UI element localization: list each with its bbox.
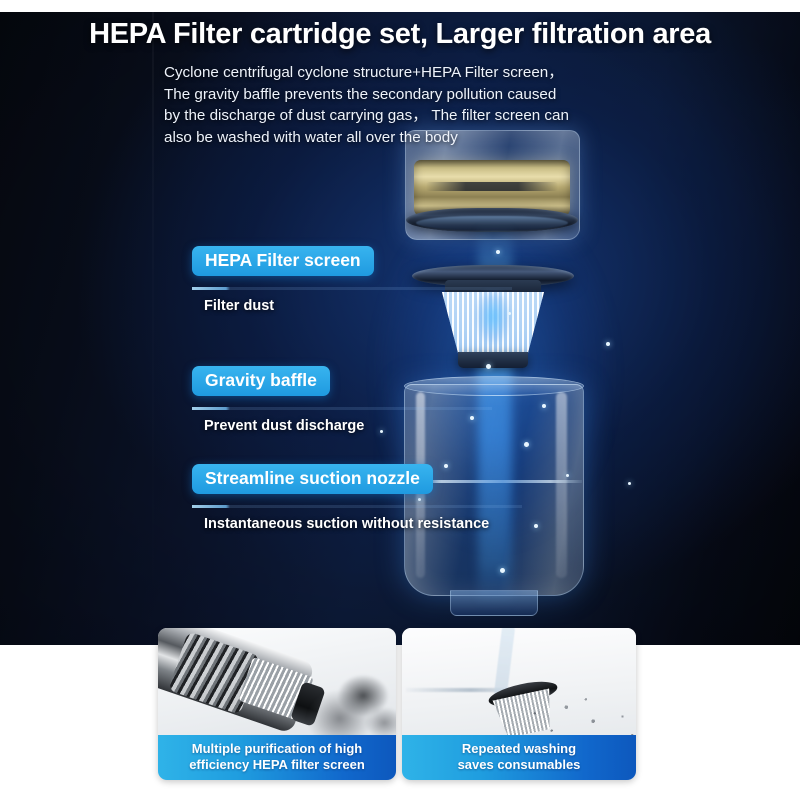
infographic-page: HEPA Filter cartridge set, Larger filtra… (0, 0, 800, 800)
feature-card-caption: Repeated washing saves consumables (402, 735, 636, 780)
feature-card-purification: Multiple purification of high efficiency… (158, 628, 396, 780)
caption-line: Repeated washing (412, 741, 626, 757)
feature-card-caption: Multiple purification of high efficiency… (158, 735, 396, 780)
caption-line: saves consumables (412, 757, 626, 773)
caption-line: Multiple purification of high (168, 741, 386, 757)
caption-line: efficiency HEPA filter screen (168, 757, 386, 773)
feature-card-list: Multiple purification of high efficiency… (0, 0, 800, 800)
feature-card-washing: Repeated washing saves consumables (402, 628, 636, 780)
